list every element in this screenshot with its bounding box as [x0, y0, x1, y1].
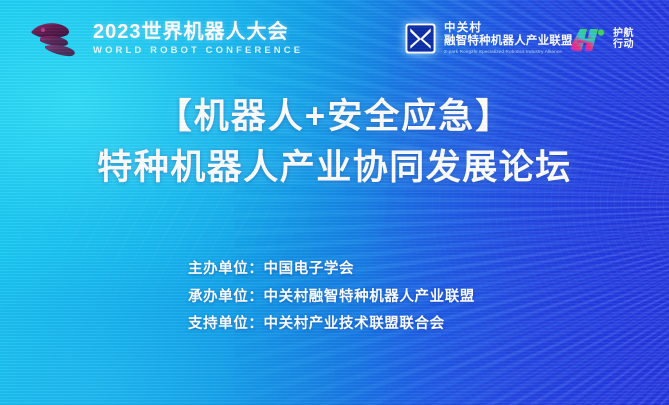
wrc-title-cn: 2023世界机器人大会 — [93, 22, 303, 43]
organizer-supporter: 支持单位：中关村产业技术联盟联合会 — [188, 317, 475, 332]
escort-logo-text: 护航 行动 — [613, 29, 634, 51]
wrc-title-en: WORLD ROBOT CONFERENCE — [93, 44, 303, 57]
alliance-name-line1: 中关村 — [444, 22, 573, 35]
zgc-x-box-mark — [404, 22, 437, 55]
wrc-robot-mark — [26, 18, 84, 62]
alliance-name-line2: 融智特种机器人产业联盟 — [444, 35, 573, 49]
forum-title-block: 【机器人+安全应急】 特种机器人产业协同发展论坛 — [0, 96, 669, 189]
logo-row: 2023世界机器人大会 WORLD ROBOT CONFERENCE 中关村 融… — [0, 0, 669, 86]
organizer-co-host: 承办单位：中关村融智特种机器人产业联盟 — [188, 290, 475, 305]
alliance-logo-text: 中关村 融智特种机器人产业联盟 Z-park Rongzhi Specializ… — [444, 22, 573, 56]
wrc-logo-lockup: 2023世界机器人大会 WORLD ROBOT CONFERENCE — [26, 18, 303, 62]
forum-title-line2: 特种机器人产业协同发展论坛 — [0, 147, 669, 190]
escort-name-line2: 行动 — [613, 40, 634, 51]
alliance-name-en: Z-park Rongzhi Specialized Robotics Indu… — [444, 49, 573, 56]
huhang-h-mark — [568, 26, 608, 54]
organizer-host: 主办单位：中国电子学会 — [188, 262, 475, 277]
alliance-logo-lockup: 中关村 融智特种机器人产业联盟 Z-park Rongzhi Specializ… — [404, 22, 573, 56]
forum-title-line1: 【机器人+安全应急】 — [0, 96, 669, 139]
escort-logo-lockup: 护航 行动 — [568, 26, 634, 54]
wrc-logo-text: 2023世界机器人大会 WORLD ROBOT CONFERENCE — [93, 22, 303, 57]
organizer-block: 主办单位：中国电子学会 承办单位：中关村融智特种机器人产业联盟 支持单位：中关村… — [188, 262, 475, 332]
conference-banner-screen: 2023世界机器人大会 WORLD ROBOT CONFERENCE 中关村 融… — [0, 0, 669, 405]
